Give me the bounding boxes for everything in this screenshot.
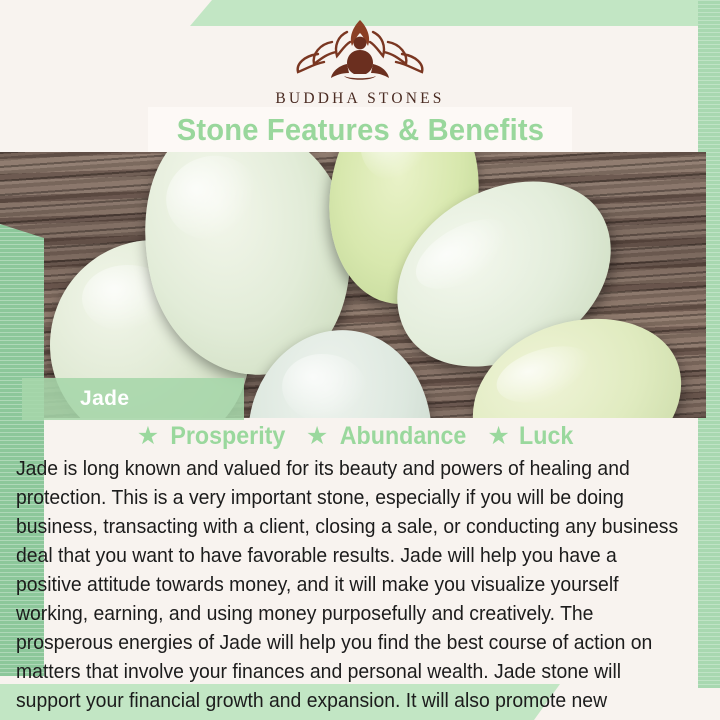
star-icon: ★ <box>487 424 509 449</box>
stone-benefits-poster: BUDDHA STONES Stone Features & Benefits … <box>0 0 720 720</box>
benefit-item: ★ Prosperity <box>137 422 290 451</box>
stone-name-label: Jade <box>80 387 129 411</box>
star-icon: ★ <box>137 424 159 449</box>
stone-name-band: Jade <box>22 378 244 420</box>
stone-description: Jade is long known and valued for its be… <box>16 455 685 720</box>
benefit-item: ★ Luck <box>487 422 575 451</box>
benefit-item: ★ Abundance <box>306 422 472 451</box>
content-panel: ★ Prosperity ★ Abundance ★ Luck Jade is … <box>16 422 690 720</box>
benefit-label: Prosperity <box>171 422 286 451</box>
brand-name: BUDDHA STONES <box>0 90 720 108</box>
title-banner: Stone Features & Benefits <box>148 107 572 152</box>
benefit-label: Luck <box>519 422 573 451</box>
benefit-label: Abundance <box>340 422 467 451</box>
lotus-meditation-icon <box>0 12 720 86</box>
benefits-list: ★ Prosperity ★ Abundance ★ Luck <box>16 422 690 451</box>
star-icon: ★ <box>306 424 328 449</box>
brand-logo: BUDDHA STONES <box>0 12 720 108</box>
page-title: Stone Features & Benefits <box>176 112 543 148</box>
